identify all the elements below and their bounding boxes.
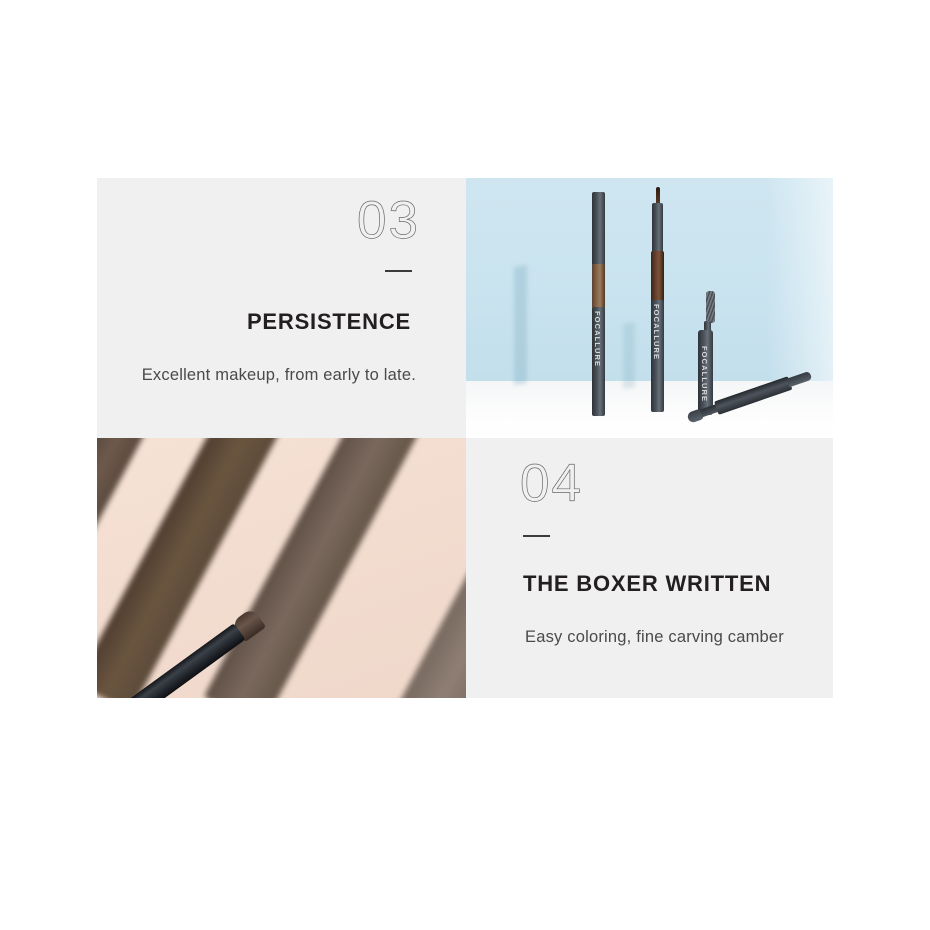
- panel-subline-04: Easy coloring, fine carving camber: [525, 628, 784, 647]
- panel-headline-04: THE BOXER WRITTEN: [523, 571, 771, 597]
- product-feature-collage: 03 PERSISTENCE Excellent makeup, from ea…: [97, 178, 833, 698]
- panel-subline-03: Excellent makeup, from early to late.: [142, 366, 416, 385]
- panel-headline-03: PERSISTENCE: [247, 309, 411, 335]
- shadow-pencil-2: [623, 322, 635, 388]
- brow-pencil-brown-collar: [652, 203, 663, 253]
- product-photo-swatches: [97, 438, 466, 698]
- brow-pencil-taupe-midsection: [592, 264, 605, 309]
- panel-04-cell: 04 THE BOXER WRITTEN Easy coloring, fine…: [466, 438, 833, 698]
- swatch-stripe-4: [360, 547, 466, 698]
- brow-pencil-brown-midsection: [651, 251, 664, 303]
- brand-label-pencil-3: FOCALLURE: [700, 346, 709, 402]
- panel-number-04: 04: [520, 457, 583, 510]
- product-photo-cell: FOCALLURE FOCALLURE FOCALLURE: [466, 178, 833, 438]
- swatch-photo-cell: [97, 438, 466, 698]
- panel-03-cell: 03 PERSISTENCE Excellent makeup, from ea…: [97, 178, 466, 438]
- panel-divider-dash: [385, 270, 412, 272]
- brand-label-pencil-2: FOCALLURE: [652, 304, 661, 360]
- brand-label-pencil-1: FOCALLURE: [593, 311, 602, 367]
- shadow-pencil-1: [514, 265, 527, 384]
- panel-number-03: 03: [357, 194, 420, 247]
- spoolie-brush-head: [706, 291, 715, 323]
- feature-panel-boxer-written: 04 THE BOXER WRITTEN Easy coloring, fine…: [466, 438, 833, 698]
- lying-pencil-end: [787, 371, 813, 387]
- product-photo-pencils: FOCALLURE FOCALLURE FOCALLURE: [466, 178, 833, 438]
- panel-divider-dash: [523, 535, 550, 537]
- brow-pencil-taupe-cap: [592, 192, 605, 266]
- feature-panel-persistence: 03 PERSISTENCE Excellent makeup, from ea…: [97, 178, 466, 438]
